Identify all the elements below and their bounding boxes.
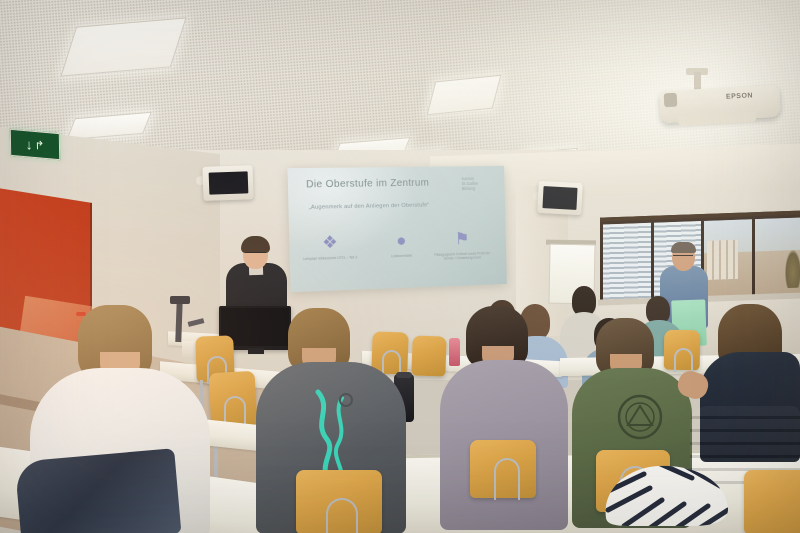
presenter-hair xyxy=(241,236,270,253)
window-pane-1 xyxy=(603,223,651,301)
slide-column-3: ⚑ Pädagogische Freiheit sowie Profil der… xyxy=(430,228,494,262)
exit-running-person-icon: ↱ xyxy=(34,138,44,151)
wall-speaker-right xyxy=(537,181,583,215)
slide-column-3-caption: Pädagogische Freiheit sowie Profil der S… xyxy=(431,251,494,261)
projector-brand-label: EPSON xyxy=(726,92,753,100)
puzzle-pieces-icon: ❖ xyxy=(296,231,364,255)
chair-empty-3[interactable] xyxy=(411,335,446,376)
chair-student-mauve-hoop xyxy=(494,458,520,500)
speaker-left-face xyxy=(208,171,248,195)
standing-man-hair xyxy=(671,242,696,253)
slide-column-2-caption: Lektionentafel xyxy=(369,253,434,259)
projection-screen: Die Oberstufe im Zentrum Kanton St.Galle… xyxy=(287,166,506,292)
standing-man-glasses-icon xyxy=(673,255,693,260)
slide-column-1: ❖ Lehrplan Volksschule LP21 – Teil 3 xyxy=(296,231,364,262)
projector-lens-icon xyxy=(664,93,678,108)
chair-foreground-right[interactable] xyxy=(744,470,800,533)
classroom-photo: EPSON ↓ ↱ Die Oberstufe xyxy=(0,0,800,533)
slide-logo: Kanton St.Gallen Bildung xyxy=(461,175,494,192)
student-green-tshirt-circular-print xyxy=(612,392,668,442)
coins-stack-icon: ● xyxy=(368,229,433,253)
slide-logo-line-3: Bildung xyxy=(462,185,495,190)
presenter-glasses-icon xyxy=(245,252,266,257)
emergency-exit-sign: ↓ ↱ xyxy=(10,129,60,160)
wall-speaker-left xyxy=(202,165,253,201)
signpost-icon: ⚑ xyxy=(430,228,494,251)
student-white-tshirt-blond-jacket xyxy=(15,448,182,533)
drink-bottle-pink[interactable] xyxy=(449,338,460,366)
slide-column-2: ● Lektionentafel xyxy=(368,229,434,259)
chair-empty-5-hoop xyxy=(674,348,693,372)
window-pane-3 xyxy=(704,219,752,297)
slide-title: Die Oberstufe im Zentrum xyxy=(306,177,429,190)
window-pane-4 xyxy=(755,218,800,296)
outside-tree xyxy=(785,249,800,288)
presenter-monitor-stand xyxy=(248,348,264,354)
equipment-stand-head xyxy=(170,296,190,304)
window-blinds-1 xyxy=(603,223,651,301)
slide-column-1-caption: Lehrplan Volksschule LP21 – Teil 3 xyxy=(296,255,363,261)
chair-student-gray-hoodie-hoop xyxy=(326,498,358,533)
exit-down-arrow-icon: ↓ xyxy=(25,137,32,152)
outside-building-facade xyxy=(707,240,738,281)
drink-bottle-black-cap[interactable] xyxy=(396,372,412,378)
striped-bag-on-table[interactable] xyxy=(596,456,736,528)
speaker-right-face xyxy=(542,187,577,210)
